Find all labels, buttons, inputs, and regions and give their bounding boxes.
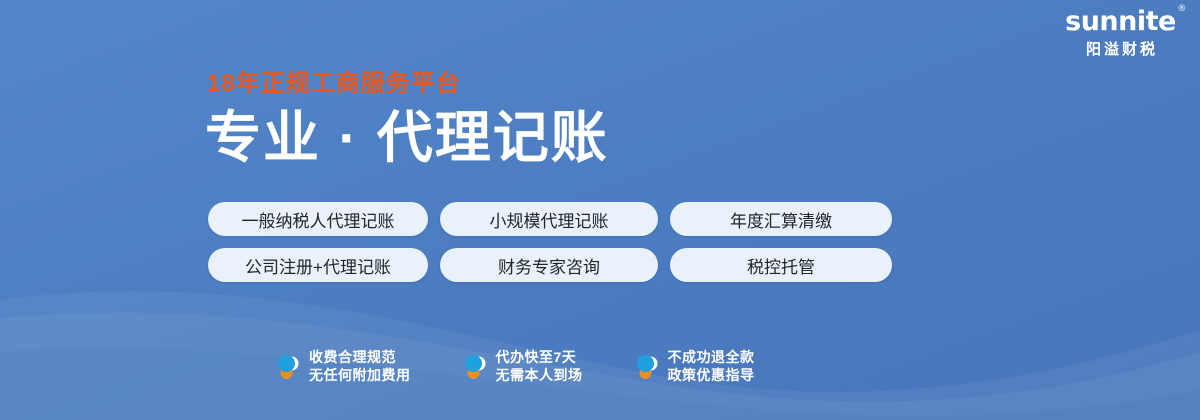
- feature-line-2: 无需本人到场: [496, 368, 583, 382]
- feature-line-1: 收费合理规范: [309, 350, 411, 364]
- page-title: 专业 · 代理记账: [205, 110, 609, 166]
- feature-item: 收费合理规范 无任何附加费用: [276, 350, 411, 382]
- headline-block: 18年正规工商服务平台 专业 · 代理记账: [205, 72, 609, 166]
- tag-small-scale-bookkeeping[interactable]: 小规模代理记账: [440, 202, 658, 236]
- feature-text: 代办快至7天 无需本人到场: [496, 350, 583, 382]
- feature-item: 不成功退全款 政策优惠指导: [635, 350, 755, 382]
- circle-crescent-icon: [635, 351, 659, 381]
- service-tag-row: 一般纳税人代理记账 小规模代理记账 年度汇算清缴: [208, 202, 892, 236]
- tag-tax-control-hosting[interactable]: 税控托管: [670, 248, 892, 282]
- logo-chinese-name: 阳溢财税: [1063, 42, 1178, 57]
- tag-financial-expert-consulting[interactable]: 财务专家咨询: [440, 248, 658, 282]
- feature-line-1: 不成功退全款: [668, 350, 755, 364]
- feature-item: 代办快至7天 无需本人到场: [463, 350, 583, 382]
- promo-banner: sunnite ® 阳溢财税 18年正规工商服务平台 专业 · 代理记账 一般纳…: [0, 0, 1200, 420]
- logo-wordmark-text: sunnite: [1065, 6, 1176, 37]
- circle-crescent-icon: [276, 351, 300, 381]
- tag-company-registration-bookkeeping[interactable]: 公司注册+代理记账: [208, 248, 428, 282]
- company-logo[interactable]: sunnite ® 阳溢财税: [1063, 8, 1178, 57]
- feature-line-2: 无任何附加费用: [309, 368, 411, 382]
- circle-crescent-icon: [463, 351, 487, 381]
- feature-list: 收费合理规范 无任何附加费用 代办快至7天 无需本人到场: [276, 350, 755, 382]
- feature-text: 不成功退全款 政策优惠指导: [668, 350, 755, 382]
- service-tag-grid: 一般纳税人代理记账 小规模代理记账 年度汇算清缴 公司注册+代理记账 财务专家咨…: [208, 202, 892, 282]
- tag-general-taxpayer-bookkeeping[interactable]: 一般纳税人代理记账: [208, 202, 428, 236]
- feature-line-2: 政策优惠指导: [668, 368, 755, 382]
- registered-trademark-icon: ®: [1177, 5, 1186, 14]
- feature-line-1: 代办快至7天: [496, 350, 583, 364]
- service-tag-row: 公司注册+代理记账 财务专家咨询 税控托管: [208, 248, 892, 282]
- feature-text: 收费合理规范 无任何附加费用: [309, 350, 411, 382]
- tag-annual-settlement[interactable]: 年度汇算清缴: [670, 202, 892, 236]
- logo-wordmark: sunnite ®: [1065, 8, 1176, 35]
- eyebrow-text: 18年正规工商服务平台: [207, 72, 609, 96]
